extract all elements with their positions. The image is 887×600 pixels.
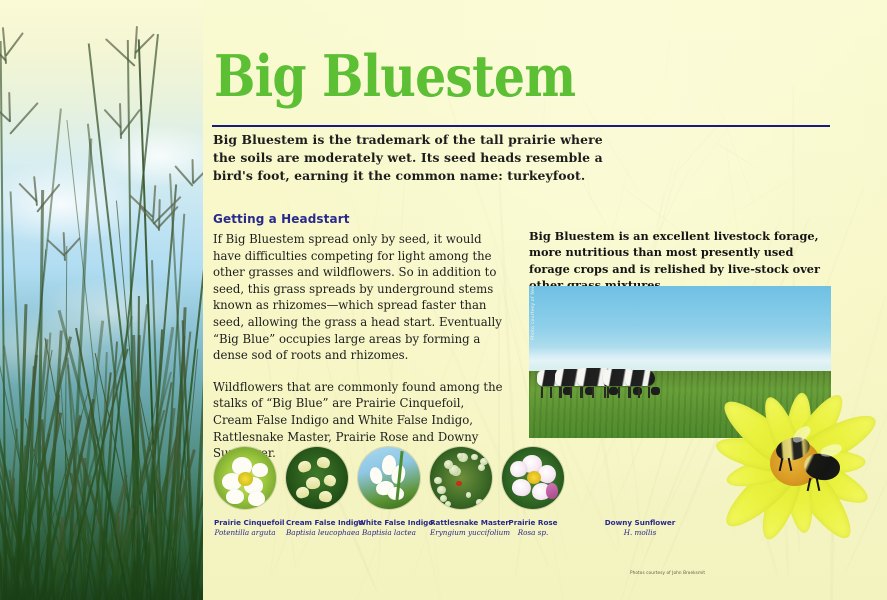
wildflower-photo: Photo courtesy of John Broeksmit	[502, 447, 564, 509]
cow	[625, 370, 655, 386]
wildflower-thumbnail: Photo courtesy of John BroeksmitCream Fa…	[286, 447, 348, 537]
body-paragraph-1: If Big Bluestem spread only by seed, it …	[213, 231, 507, 364]
wildflower-photo: Photo courtesy of John Broeksmit	[214, 447, 276, 509]
intro-paragraph: Big Bluestem is the trademark of the tal…	[213, 131, 613, 185]
wildflower-photo: Photo courtesy of John Broeksmit	[430, 447, 492, 509]
photo-caption: Big Bluestem is an excellent livestock f…	[529, 228, 831, 294]
wildflower-common-name: Prairie Rose	[502, 518, 564, 527]
title-rule	[212, 125, 830, 127]
section-heading: Getting a Headstart	[213, 212, 350, 226]
wildflower-common-name: Rattlesnake Master	[430, 518, 492, 527]
wildflower-common-name: Cream False Indigo	[286, 518, 348, 527]
cattle-photo-credit: Photo courtesy of Neil Sass	[531, 272, 536, 340]
downy-sunflower-photo	[700, 338, 887, 588]
interpretive-sign: Big Bluestem Big Bluestem is the tradema…	[0, 0, 887, 600]
wildflower-scientific-name: Potentilla arguta	[214, 528, 276, 537]
wildflower-scientific-name: Baptisia leucophaea	[286, 528, 348, 537]
wildflower-scientific-name: Baptisia lactea	[358, 528, 420, 537]
wildflower-thumbnail: Photo courtesy of John BroeksmitRattlesn…	[430, 447, 492, 537]
page-photo-credit: Photos courtesy of John Broeksmit	[630, 570, 705, 575]
wildflower-photo: Photo courtesy of John Broeksmit	[286, 447, 348, 509]
big-bluestem-grass-photo	[0, 0, 203, 600]
wildflower-scientific-name: Eryngium yuccifolium	[430, 528, 492, 537]
wildflower-common-name: White False Indigo	[358, 518, 420, 527]
wildflower-thumbnail: Downy SunflowerH. mollis	[592, 447, 688, 537]
wildflower-thumbnail: Photo courtesy of John BroeksmitWhite Fa…	[358, 447, 420, 537]
page-title: Big Bluestem	[214, 48, 575, 105]
wildflower-scientific-name: Rosa sp.	[502, 528, 564, 537]
wildflower-common-name: Prairie Cinquefoil	[214, 518, 276, 527]
wildflower-scientific-name: H. mollis	[592, 528, 688, 537]
wildflower-thumbnail-row: Photo courtesy of John BroeksmitPrairie …	[214, 447, 684, 547]
wildflower-common-name: Downy Sunflower	[592, 518, 688, 527]
body-text: If Big Bluestem spread only by seed, it …	[213, 231, 507, 477]
wildflower-thumbnail: Photo courtesy of John BroeksmitPrairie …	[214, 447, 276, 537]
wildflower-thumbnail: Photo courtesy of John BroeksmitPrairie …	[502, 447, 564, 537]
wildflower-photo: Photo courtesy of John Broeksmit	[358, 447, 420, 509]
